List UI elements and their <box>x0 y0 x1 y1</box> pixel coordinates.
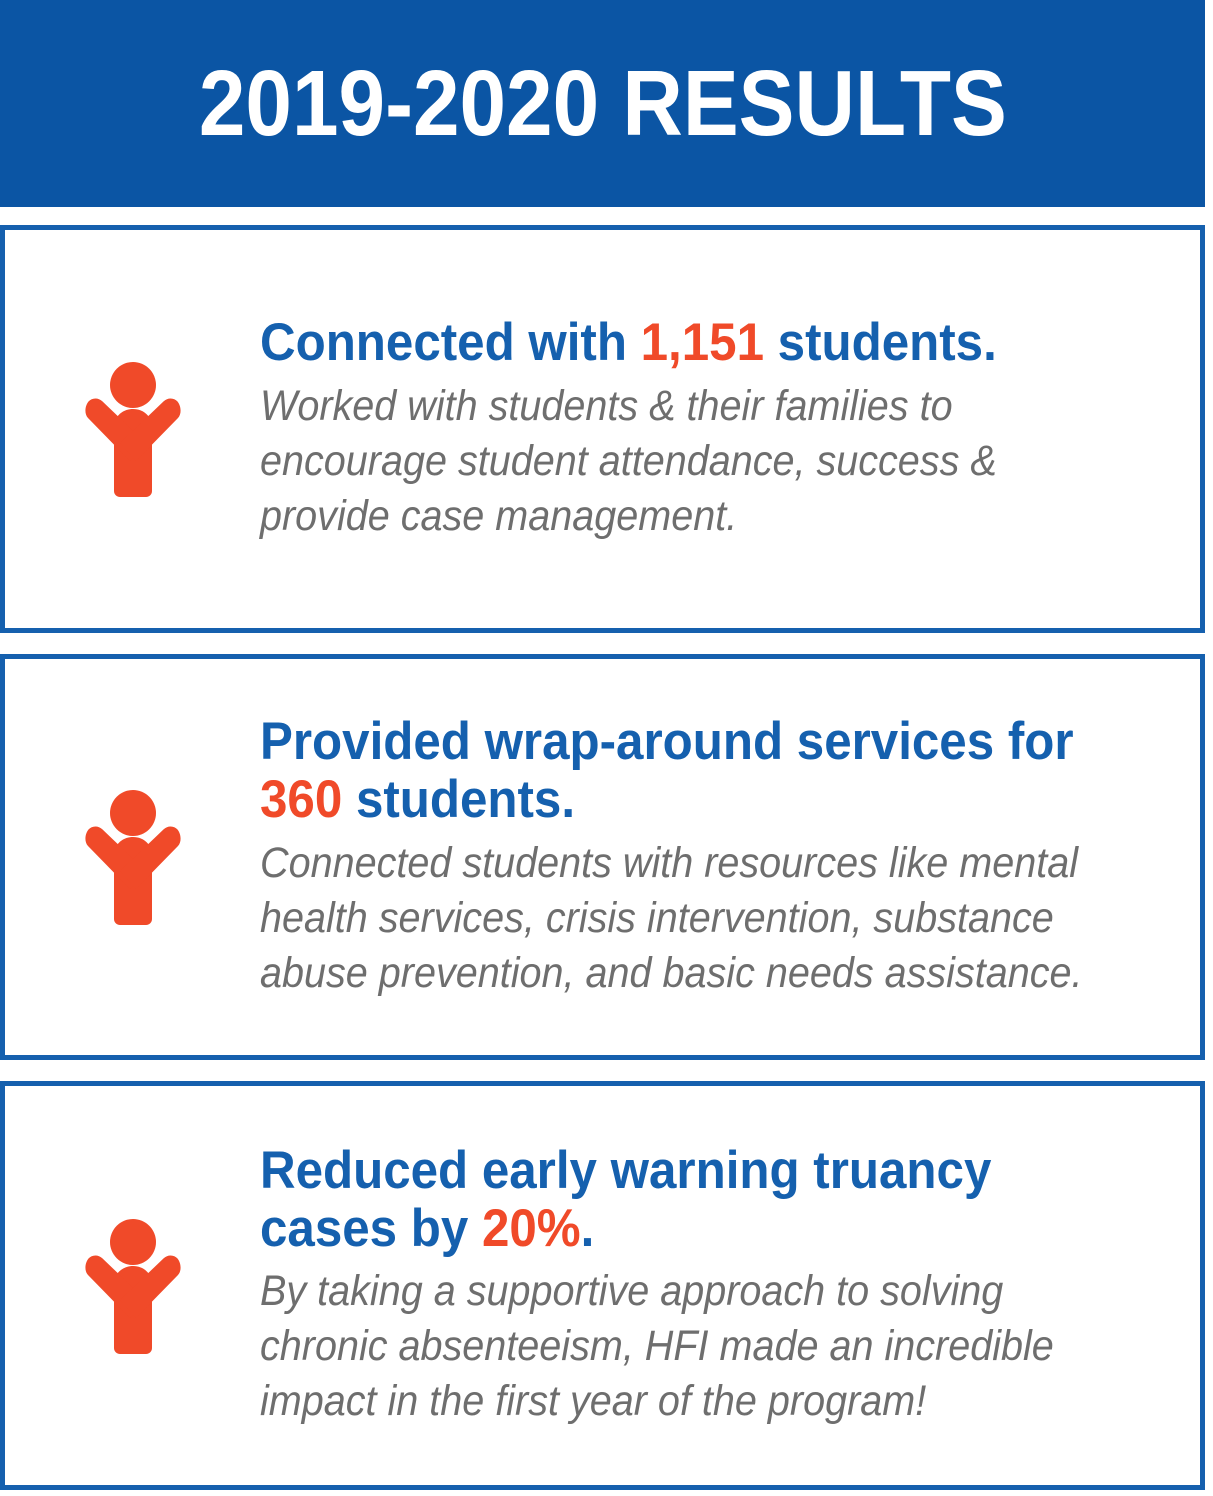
card-heading-suffix: students. <box>764 313 997 372</box>
card-heading-suffix: students. <box>342 770 575 829</box>
result-card: Reduced early warning truancy cases by 2… <box>0 1081 1205 1490</box>
card-heading: Reduced early warning truancy cases by 2… <box>260 1142 1103 1259</box>
result-card: Connected with 1,151 students. Worked wi… <box>0 225 1205 633</box>
card-text-container: Reduced early warning truancy cases by 2… <box>260 1142 1200 1430</box>
card-heading-number: 1,151 <box>641 313 764 372</box>
results-card-list: Connected with 1,151 students. Worked wi… <box>0 207 1213 1496</box>
card-heading-prefix: Connected with <box>260 313 641 372</box>
card-body-text: Worked with students & their families to… <box>260 379 1094 544</box>
card-heading-number: 360 <box>260 770 342 829</box>
header-banner: 2019-2020 RESULTS <box>0 0 1205 207</box>
card-body-text: Connected students with resources like m… <box>260 836 1094 1001</box>
card-icon-container <box>5 1218 260 1354</box>
card-heading: Provided wrap-around services for 360 st… <box>260 713 1103 830</box>
card-text-container: Provided wrap-around services for 360 st… <box>260 713 1200 1001</box>
card-heading-prefix: Reduced early warning truancy cases by <box>260 1141 991 1258</box>
card-icon-container <box>5 361 260 497</box>
person-arms-raised-icon <box>74 789 192 925</box>
card-icon-container <box>5 789 260 925</box>
result-card: Provided wrap-around services for 360 st… <box>0 654 1205 1060</box>
card-heading: Connected with 1,151 students. <box>260 314 1103 372</box>
person-arms-raised-icon <box>74 361 192 497</box>
card-body-text: By taking a supportive approach to solvi… <box>260 1264 1094 1429</box>
person-arms-raised-icon <box>74 1218 192 1354</box>
results-infographic: 2019-2020 RESULTS Connected with 1,151 s… <box>0 0 1213 1496</box>
card-heading-prefix: Provided wrap-around services for <box>260 712 1074 771</box>
card-heading-suffix: . <box>581 1199 595 1258</box>
page-title: 2019-2020 RESULTS <box>199 57 1007 150</box>
card-text-container: Connected with 1,151 students. Worked wi… <box>260 314 1200 543</box>
card-heading-number: 20% <box>482 1199 581 1258</box>
